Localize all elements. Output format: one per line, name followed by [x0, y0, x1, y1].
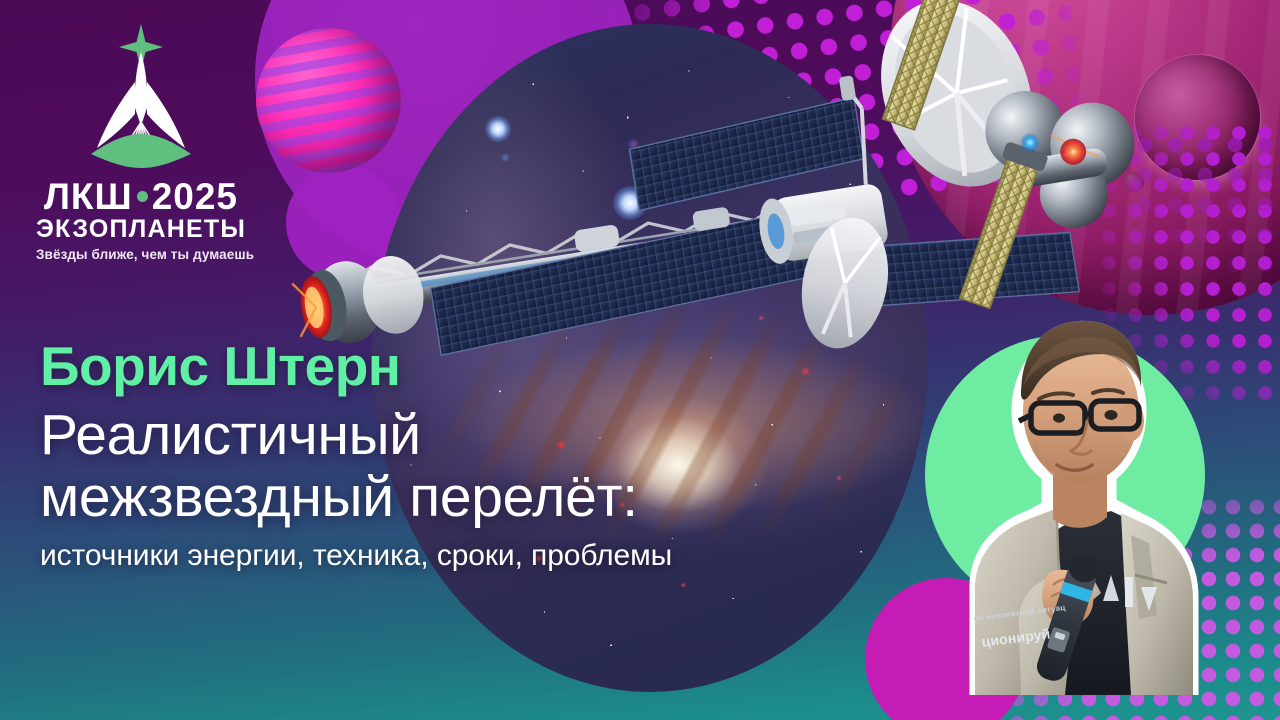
thumbnail-canvas: ЛКШ2025 ЭКЗОПЛАНЕТЫ Звёзды ближе, чем ты…	[0, 0, 1280, 720]
rocket-star-emblem-icon	[77, 22, 205, 172]
headline-block: Борис Штерн Реалистичный межзвездный пер…	[40, 336, 940, 574]
event-logo: ЛКШ2025 ЭКЗОПЛАНЕТЫ Звёзды ближе, чем ты…	[36, 22, 246, 262]
speaker-name: Борис Штерн	[40, 336, 940, 396]
logo-separator-dot	[137, 191, 148, 202]
talk-title-line-2: межзвездный перелёт:	[40, 466, 940, 528]
talk-title-line-1: Реалистичный	[40, 404, 940, 466]
logo-theme: ЭКЗОПЛАНЕТЫ	[36, 216, 246, 243]
logo-tagline: Звёзды ближе, чем ты думаешь	[36, 247, 246, 262]
speaker-portrait-area: ой непонятной ситуац ционируй	[925, 275, 1225, 695]
logo-acronym: ЛКШ	[44, 176, 133, 217]
logo-wordmark: ЛКШ2025 ЭКЗОПЛАНЕТЫ Звёзды ближе, чем ты…	[36, 178, 246, 262]
talk-subtitle: источники энергии, техника, сроки, пробл…	[40, 538, 940, 574]
logo-year: 2025	[152, 176, 238, 217]
logo-line-year: ЛКШ2025	[36, 178, 246, 216]
talk-title: Реалистичный межзвездный перелёт:	[40, 404, 940, 528]
